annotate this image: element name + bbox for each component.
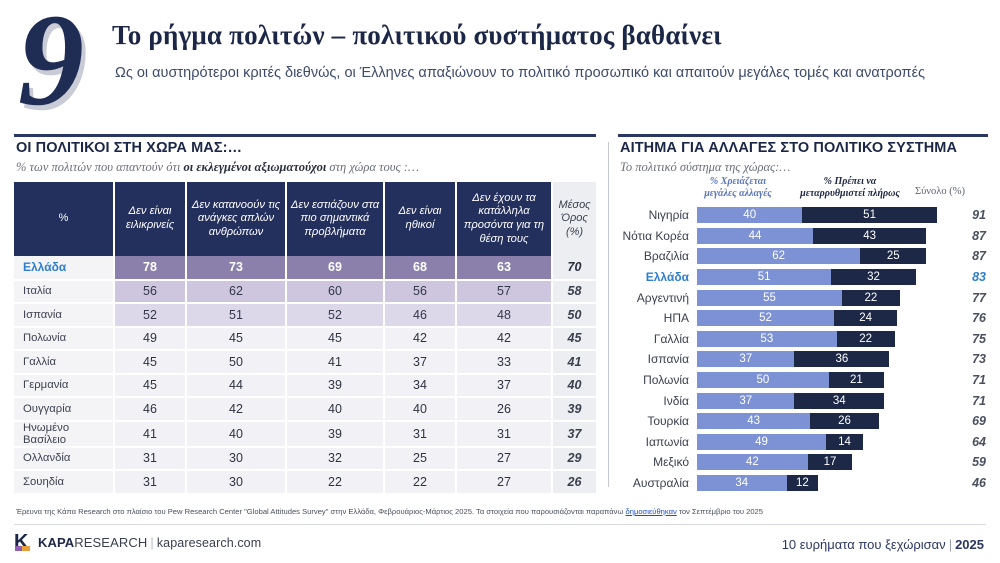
table-cell-country: Γαλλία <box>14 350 114 374</box>
chart-segment-major-changes: 42 <box>697 454 808 470</box>
table-cell-value: 30 <box>186 447 286 471</box>
chart-segment-major-changes: 53 <box>697 331 837 347</box>
table-cell-value: 42 <box>456 327 552 351</box>
chart-segment-full-reform: 22 <box>837 331 895 347</box>
table-cell-average: 40 <box>552 374 596 398</box>
chart-row-label: Βραζιλία <box>618 249 697 263</box>
chart-row-bars: 4914 <box>697 434 863 450</box>
chart-segment-full-reform: 22 <box>842 290 900 306</box>
table-cell-value: 22 <box>286 470 384 494</box>
table-cell-value: 63 <box>456 256 552 280</box>
table-cell-value: 46 <box>384 303 456 327</box>
chart-row: Αυστραλία341246 <box>618 473 990 494</box>
chart-row: Νότια Κορέα444387 <box>618 226 990 247</box>
table-cell-value: 68 <box>384 256 456 280</box>
chart-row-label: Αργεντινή <box>618 291 697 305</box>
chart-segment-major-changes: 50 <box>697 372 829 388</box>
brand-separator: | <box>147 535 156 550</box>
chart-row: ΗΠΑ522476 <box>618 308 990 329</box>
table-row: Ουγγαρία464240402639 <box>14 397 596 421</box>
table-cell-average: 29 <box>552 447 596 471</box>
chart-row-total: 46 <box>944 473 990 494</box>
legend-total-label: Σύνολο (%) <box>915 186 987 199</box>
table-cell-country: Σουηδία <box>14 470 114 494</box>
table-cell-country: Ηνωμένο Βασίλειο <box>14 421 114 447</box>
chart-row-label: Πολωνία <box>618 373 697 387</box>
chart-row-label: Αυστραλία <box>618 476 697 490</box>
table-cell-value: 41 <box>286 350 384 374</box>
footer-year: 2025 <box>955 537 984 552</box>
table-cell-value: 51 <box>186 303 286 327</box>
chart-row: Ιαπωνία491464 <box>618 432 990 453</box>
chart-row-label: Ισπανία <box>618 352 697 366</box>
left-panel-title: ΟΙ ΠΟΛΙΤΙΚΟΙ ΣΤΗ ΧΩΡΑ ΜΑΣ:… <box>16 140 242 156</box>
table-cell-value: 33 <box>456 350 552 374</box>
chart-row-bars: 3736 <box>697 351 889 367</box>
table-cell-value: 31 <box>456 421 552 447</box>
chart-row: Βραζιλία622587 <box>618 246 990 267</box>
table-cell-value: 60 <box>286 280 384 304</box>
table-row: Ηνωμένο Βασίλειο414039313137 <box>14 421 596 447</box>
table-cell-value: 46 <box>114 397 186 421</box>
table-cell-average: 70 <box>552 256 596 280</box>
table-cell-average: 45 <box>552 327 596 351</box>
table-cell-value: 40 <box>186 421 286 447</box>
left-panel-subtitle: % των πολιτών που απαντούν ότι οι εκλεγμ… <box>16 160 419 175</box>
source-note: Έρευνα της Κάπα Research στο πλαίσιο του… <box>16 507 976 517</box>
chart-row: Ελλάδα513283 <box>618 267 990 288</box>
chart-row-label: ΗΠΑ <box>618 311 697 325</box>
chart-row: Νιγηρία405191 <box>618 205 990 226</box>
chart-row: Αργεντινή552277 <box>618 287 990 308</box>
legend-line-0: % Χρειάζεται <box>692 176 784 188</box>
chart-row-total: 69 <box>944 411 990 432</box>
chart-segment-full-reform: 43 <box>813 228 926 244</box>
table-cell-value: 56 <box>384 280 456 304</box>
source-note-pre: Έρευνα της Κάπα Research στο πλαίσιο του… <box>16 507 626 516</box>
table-cell-country: Πολωνία <box>14 327 114 351</box>
chart-segment-full-reform: 12 <box>787 475 819 491</box>
table-cell-value: 50 <box>186 350 286 374</box>
chart-row-bars: 4051 <box>697 207 937 223</box>
table-cell-value: 32 <box>286 447 384 471</box>
table-cell-value: 42 <box>186 397 286 421</box>
table-cell-country: Ουγγαρία <box>14 397 114 421</box>
chart-row-total: 75 <box>944 329 990 350</box>
table-cell-value: 42 <box>384 327 456 351</box>
table-cell-value: 62 <box>186 280 286 304</box>
chart-row-total: 87 <box>944 246 990 267</box>
chart-segment-full-reform: 14 <box>826 434 863 450</box>
table-cell-value: 34 <box>384 374 456 398</box>
chart-row-bars: 5021 <box>697 372 884 388</box>
chart-row-bars: 3412 <box>697 475 818 491</box>
chart-segment-full-reform: 17 <box>808 454 853 470</box>
table-row: Ελλάδα787369686370 <box>14 256 596 280</box>
slide-root: 9 Το ρήγμα πολιτών – πολιτικού συστήματο… <box>0 0 1000 563</box>
right-panel-title: ΑΙΤΗΜΑ ΓΙΑ ΑΛΛΑΓΕΣ ΣΤΟ ΠΟΛΙΤΙΚΟ ΣΥΣΤΗΜΑ <box>620 140 957 156</box>
table-cell-country: Γερμανία <box>14 374 114 398</box>
chart-row: Ισπανία373673 <box>618 349 990 370</box>
table-cell-value: 31 <box>114 447 186 471</box>
table-cell-value: 39 <box>286 374 384 398</box>
chart-segment-major-changes: 55 <box>697 290 842 306</box>
chart-row-bars: 5132 <box>697 269 916 285</box>
left-subtitle-bold: οι εκλεγμένοι αξιωματούχοι <box>184 160 327 174</box>
table-cell-average: 39 <box>552 397 596 421</box>
table-cell-value: 39 <box>286 421 384 447</box>
chart-row-total: 71 <box>944 370 990 391</box>
chart-row-label: Ινδία <box>618 394 697 408</box>
chart-segment-major-changes: 51 <box>697 269 831 285</box>
table-cell-value: 30 <box>186 470 286 494</box>
source-note-link[interactable]: δημοσιεύθηκαν <box>626 507 677 516</box>
table-row: Σουηδία313022222726 <box>14 470 596 494</box>
table-cell-value: 52 <box>286 303 384 327</box>
table-cell-value: 78 <box>114 256 186 280</box>
kapa-logo-purple-block <box>15 546 22 551</box>
table-cell-value: 40 <box>384 397 456 421</box>
brand-website[interactable]: kaparesearch.com <box>157 536 261 550</box>
chart-segment-major-changes: 44 <box>697 228 813 244</box>
legend-line-1: μεταρρυθμιστεί πλήρως <box>790 188 910 200</box>
table-col-header-5: Δεν έχουν τα κατάλληλα προσόντα για τη θ… <box>456 182 552 256</box>
table-cell-average: 41 <box>552 350 596 374</box>
chart-row: Μεξικό421759 <box>618 452 990 473</box>
table-col-header-pct: % <box>14 182 114 256</box>
chart-row-total: 71 <box>944 390 990 411</box>
chart-row-label: Γαλλία <box>618 332 697 346</box>
table-cell-average: 26 <box>552 470 596 494</box>
table-cell-value: 40 <box>286 397 384 421</box>
chart-row-label: Τουρκία <box>618 414 697 428</box>
table-cell-country: Ιταλία <box>14 280 114 304</box>
chart-segment-full-reform: 26 <box>810 413 879 429</box>
chart-segment-major-changes: 34 <box>697 475 787 491</box>
slide-header: 9 Το ρήγμα πολιτών – πολιτικού συστήματο… <box>0 0 1000 128</box>
chart-row-bars: 5224 <box>697 310 897 326</box>
table-cell-value: 52 <box>114 303 186 327</box>
chart-row-total: 83 <box>944 267 990 288</box>
chart-row-total: 87 <box>944 226 990 247</box>
table-cell-value: 69 <box>286 256 384 280</box>
chart-row-bars: 4443 <box>697 228 926 244</box>
table-cell-country: Ελλάδα <box>14 256 114 280</box>
chart-row-total: 64 <box>944 432 990 453</box>
table-cell-value: 22 <box>384 470 456 494</box>
table-body: Ελλάδα787369686370Ιταλία566260565758Ισπα… <box>14 256 596 494</box>
table-cell-average: 37 <box>552 421 596 447</box>
chart-row: Ινδία373471 <box>618 390 990 411</box>
chart-row: Πολωνία502171 <box>618 370 990 391</box>
table-row: Ισπανία525152464850 <box>14 303 596 327</box>
chart-row-bars: 6225 <box>697 248 926 264</box>
chart-row-label: Ελλάδα <box>618 270 697 284</box>
chart-segment-major-changes: 52 <box>697 310 834 326</box>
legend-line-1: μεγάλες αλλαγές <box>692 188 784 200</box>
table-cell-value: 49 <box>114 327 186 351</box>
page-subtitle: Ως οι αυστηρότεροι κριτές διεθνώς, οι Έλ… <box>115 62 955 84</box>
chart-row-label: Νότια Κορέα <box>618 229 697 243</box>
table-col-header-1: Δεν είναι ειλικρινείς <box>114 182 186 256</box>
left-subtitle-post: στη χώρα τους :… <box>326 160 419 174</box>
kapa-k-icon: K <box>14 534 31 551</box>
table-cell-value: 26 <box>456 397 552 421</box>
chart-segment-full-reform: 21 <box>829 372 884 388</box>
table-cell-value: 45 <box>186 327 286 351</box>
chart-row: Γαλλία532275 <box>618 329 990 350</box>
table-cell-country: Ολλανδία <box>14 447 114 471</box>
table-cell-average: 50 <box>552 303 596 327</box>
kapa-logo-orange-block <box>22 546 30 551</box>
chart-row-label: Νιγηρία <box>618 208 697 222</box>
chart-segment-full-reform: 36 <box>794 351 889 367</box>
right-section-rule <box>618 134 988 137</box>
table-cell-value: 45 <box>286 327 384 351</box>
table-cell-value: 45 <box>114 350 186 374</box>
chart-row-label: Ιαπωνία <box>618 435 697 449</box>
table-cell-country: Ισπανία <box>14 303 114 327</box>
table-row: Ολλανδία313032252729 <box>14 447 596 471</box>
chart-segment-full-reform: 32 <box>831 269 915 285</box>
footer-caption: 10 ευρήματα που ξεχώρισαν|2025 <box>782 537 984 552</box>
table-row: Πολωνία494545424245 <box>14 327 596 351</box>
chart-segment-major-changes: 62 <box>697 248 860 264</box>
slide-number: 9 <box>18 0 80 126</box>
table-row: Γερμανία454439343740 <box>14 374 596 398</box>
table-col-header-average: Μέσος Όρος (%) <box>552 182 596 256</box>
left-subtitle-pre: % των πολιτών που απαντούν ότι <box>16 160 184 174</box>
table-cell-value: 56 <box>114 280 186 304</box>
chart-row-bars: 4326 <box>697 413 879 429</box>
table-header-row: %Δεν είναι ειλικρινείςΔεν κατανοούν τις … <box>14 182 596 256</box>
politicians-table: %Δεν είναι ειλικρινείςΔεν κατανοούν τις … <box>14 182 596 495</box>
table-col-header-4: Δεν είναι ηθικοί <box>384 182 456 256</box>
legend-series-2: % Πρέπει ναμεταρρυθμιστεί πλήρως <box>790 176 910 200</box>
table-cell-value: 31 <box>114 470 186 494</box>
chart-segment-major-changes: 37 <box>697 351 794 367</box>
table-cell-value: 48 <box>456 303 552 327</box>
table-cell-value: 41 <box>114 421 186 447</box>
table-cell-value: 37 <box>384 350 456 374</box>
chart-segment-full-reform: 34 <box>794 393 884 409</box>
brand-name: KAPARESEARCH|kaparesearch.com <box>38 535 261 550</box>
table-cell-value: 45 <box>114 374 186 398</box>
chart-row-total: 91 <box>944 205 990 226</box>
chart-row-bars: 4217 <box>697 454 852 470</box>
table-cell-value: 37 <box>456 374 552 398</box>
footer-caption-separator: | <box>946 537 955 552</box>
chart-segment-major-changes: 40 <box>697 207 802 223</box>
chart-row-total: 59 <box>944 452 990 473</box>
chart-segment-full-reform: 25 <box>860 248 926 264</box>
chart-row-total: 77 <box>944 287 990 308</box>
chart-row-total: 76 <box>944 308 990 329</box>
table-cell-value: 31 <box>384 421 456 447</box>
table-cell-average: 58 <box>552 280 596 304</box>
table-cell-value: 73 <box>186 256 286 280</box>
left-section-rule <box>14 134 596 137</box>
chart-segment-full-reform: 51 <box>802 207 936 223</box>
legend-series-1: % Χρειάζεταιμεγάλες αλλαγές <box>692 176 784 200</box>
chart-segment-major-changes: 49 <box>697 434 826 450</box>
table-cell-value: 25 <box>384 447 456 471</box>
legend-line-0: % Πρέπει να <box>790 176 910 188</box>
chart-segment-major-changes: 43 <box>697 413 810 429</box>
right-panel-subtitle: Το πολιτικό σύστημα της χώρας:… <box>620 160 790 175</box>
footer-caption-text: 10 ευρήματα που ξεχώρισαν <box>782 537 946 552</box>
chart-row: Τουρκία432669 <box>618 411 990 432</box>
brand-name-bold: KAPA <box>38 535 74 550</box>
table-col-header-2: Δεν κατανοούν τις ανάγκες απλών ανθρώπων <box>186 182 286 256</box>
table-cell-value: 44 <box>186 374 286 398</box>
reform-bar-chart: Νιγηρία405191Νότια Κορέα444387Βραζιλία62… <box>618 205 990 493</box>
table-col-header-3: Δεν εστιάζουν στα πιο σημαντικά προβλήμα… <box>286 182 384 256</box>
panel-divider <box>608 142 609 487</box>
table-cell-value: 57 <box>456 280 552 304</box>
table-row: Γαλλία455041373341 <box>14 350 596 374</box>
footer-divider <box>14 524 986 525</box>
table-cell-value: 27 <box>456 447 552 471</box>
table-cell-value: 27 <box>456 470 552 494</box>
chart-row-total: 73 <box>944 349 990 370</box>
brand-logo: K KAPARESEARCH|kaparesearch.com <box>14 534 261 551</box>
page-title: Το ρήγμα πολιτών – πολιτικού συστήματος … <box>112 20 722 51</box>
chart-row-bars: 3734 <box>697 393 884 409</box>
chart-row-label: Μεξικό <box>618 455 697 469</box>
source-note-post: τον Σεπτέμβριο του 2025 <box>677 507 763 516</box>
chart-segment-major-changes: 37 <box>697 393 794 409</box>
chart-row-bars: 5322 <box>697 331 895 347</box>
chart-row-bars: 5522 <box>697 290 900 306</box>
chart-segment-full-reform: 24 <box>834 310 897 326</box>
table-row: Ιταλία566260565758 <box>14 280 596 304</box>
brand-name-light: RESEARCH <box>74 535 147 550</box>
